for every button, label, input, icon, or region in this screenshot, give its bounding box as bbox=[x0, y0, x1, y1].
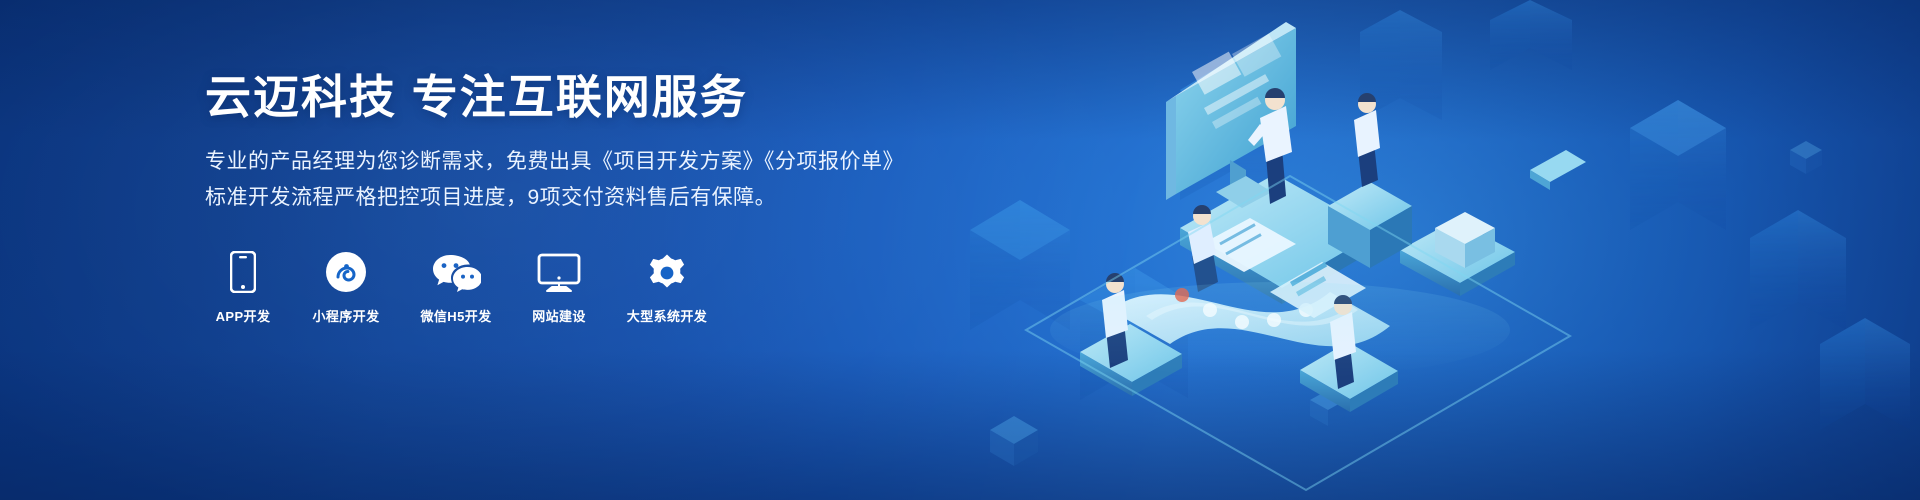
service-item-app[interactable]: APP开发 bbox=[205, 249, 281, 325]
isometric-illustration bbox=[930, 0, 1920, 500]
service-item-website[interactable]: 网站建设 bbox=[523, 249, 595, 325]
service-label: 网站建设 bbox=[532, 306, 586, 325]
service-list: APP开发 小程序开发 bbox=[205, 249, 925, 325]
hero-banner: 云迈科技 专注互联网服务 专业的产品经理为您诊断需求，免费出具《项目开发方案》《… bbox=[0, 0, 1920, 500]
service-label: 微信H5开发 bbox=[420, 306, 491, 325]
service-label: 大型系统开发 bbox=[627, 306, 707, 325]
mobile-phone-icon bbox=[230, 249, 256, 293]
banner-subtitle-line-1: 专业的产品经理为您诊断需求，免费出具《项目开发方案》《分项报价单》 bbox=[205, 145, 925, 179]
service-item-wechat-h5[interactable]: 微信H5开发 bbox=[411, 249, 501, 325]
banner-content: 云迈科技 专注互联网服务 专业的产品经理为您诊断需求，免费出具《项目开发方案》《… bbox=[205, 72, 925, 325]
service-label: 小程序开发 bbox=[312, 306, 379, 325]
gear-icon bbox=[645, 249, 689, 293]
wechat-icon bbox=[431, 249, 481, 293]
service-item-mini-program[interactable]: 小程序开发 bbox=[303, 249, 389, 325]
mini-program-icon bbox=[325, 249, 367, 293]
service-label: APP开发 bbox=[216, 306, 271, 325]
page-title: 云迈科技 专注互联网服务 bbox=[205, 72, 925, 123]
banner-subtitle-line-2: 标准开发流程严格把控项目进度，9项交付资料售后有保障。 bbox=[205, 181, 925, 215]
service-item-large-system[interactable]: 大型系统开发 bbox=[617, 249, 717, 325]
monitor-icon bbox=[537, 249, 581, 293]
